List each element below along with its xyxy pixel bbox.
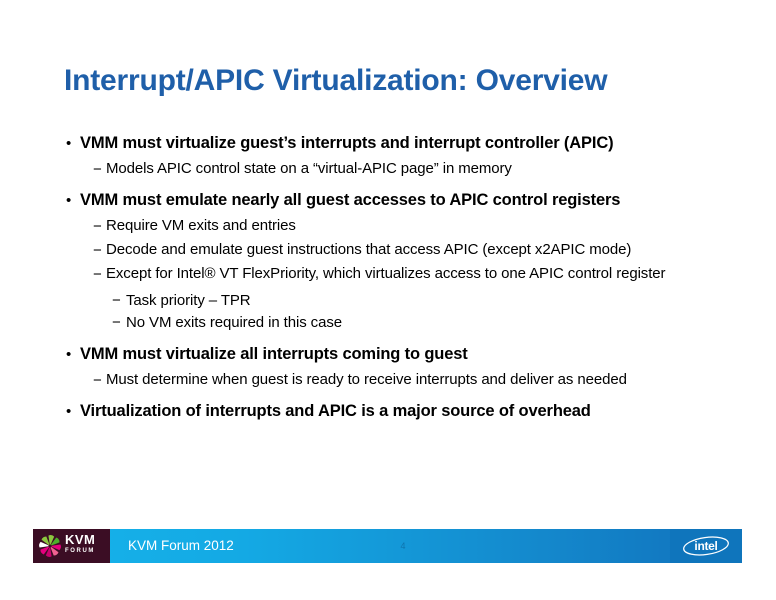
bullet-marker: −: [93, 264, 102, 285]
bullet-marker: −: [93, 370, 102, 391]
bullet-marker: −: [93, 240, 102, 261]
bullet-text: Task priority – TPR: [126, 291, 722, 310]
intel-wordmark: intel: [682, 536, 730, 556]
bullet-text: VMM must virtualize all interrupts comin…: [80, 344, 728, 365]
bullet-level-2: −Models APIC control state on a “virtual…: [0, 159, 776, 178]
bullet-level-1: •VMM must emulate nearly all guest acces…: [0, 190, 776, 211]
bullet-level-3: −Task priority – TPR: [0, 291, 776, 310]
page-title: Interrupt/APIC Virtualization: Overview: [64, 64, 754, 97]
bullet-text: Must determine when guest is ready to re…: [106, 370, 722, 389]
bullet-marker: •: [66, 133, 71, 155]
kvm-subtitle-text: FORUM: [65, 547, 109, 556]
bullet-text: Require VM exits and entries: [106, 216, 722, 235]
bullet-text: Virtualization of interrupts and APIC is…: [80, 401, 728, 422]
bullet-level-3: −No VM exits required in this case: [0, 313, 776, 332]
kvm-pinwheel-icon: [37, 533, 63, 559]
bullet-marker: −: [112, 291, 121, 311]
kvm-brand-text: KVM: [65, 532, 95, 547]
bullet-level-2: −Except for Intel® VT FlexPriority, whic…: [0, 264, 776, 283]
bullet-level-2: −Must determine when guest is ready to r…: [0, 370, 776, 389]
bullet-marker: •: [66, 190, 71, 212]
bullet-text: Models APIC control state on a “virtual-…: [106, 159, 722, 178]
bullet-text: VMM must emulate nearly all guest access…: [80, 190, 728, 211]
intel-logo-icon: intel: [682, 536, 730, 556]
bullet-text: VMM must virtualize guest’s interrupts a…: [80, 133, 728, 154]
bullet-marker: −: [112, 313, 121, 333]
footer-event-label: KVM Forum 2012: [128, 538, 234, 554]
kvm-wordmark: KVM FORUM: [65, 533, 109, 556]
slide-footer: KVM FORUM KVM Forum 2012 4 intel: [33, 529, 742, 563]
bullet-text: No VM exits required in this case: [126, 313, 722, 332]
bullet-level-1: •Virtualization of interrupts and APIC i…: [0, 401, 776, 422]
slide-canvas: Interrupt/APIC Virtualization: Overview …: [0, 0, 776, 600]
intel-logo: intel: [670, 529, 742, 563]
bullet-level-1: •VMM must virtualize all interrupts comi…: [0, 344, 776, 365]
bullet-marker: −: [93, 216, 102, 237]
kvm-forum-logo: KVM FORUM: [33, 529, 110, 563]
bullet-marker: •: [66, 344, 71, 366]
bullet-text: Except for Intel® VT FlexPriority, which…: [106, 264, 722, 283]
bullet-marker: −: [93, 159, 102, 180]
bullet-marker: •: [66, 401, 71, 423]
slide-body: •VMM must virtualize guest’s interrupts …: [0, 133, 776, 425]
bullet-level-1: •VMM must virtualize guest’s interrupts …: [0, 133, 776, 154]
bullet-level-2: −Require VM exits and entries: [0, 216, 776, 235]
bullet-text: Decode and emulate guest instructions th…: [106, 240, 722, 259]
bullet-level-2: −Decode and emulate guest instructions t…: [0, 240, 776, 259]
slide-page-number: 4: [393, 541, 413, 552]
